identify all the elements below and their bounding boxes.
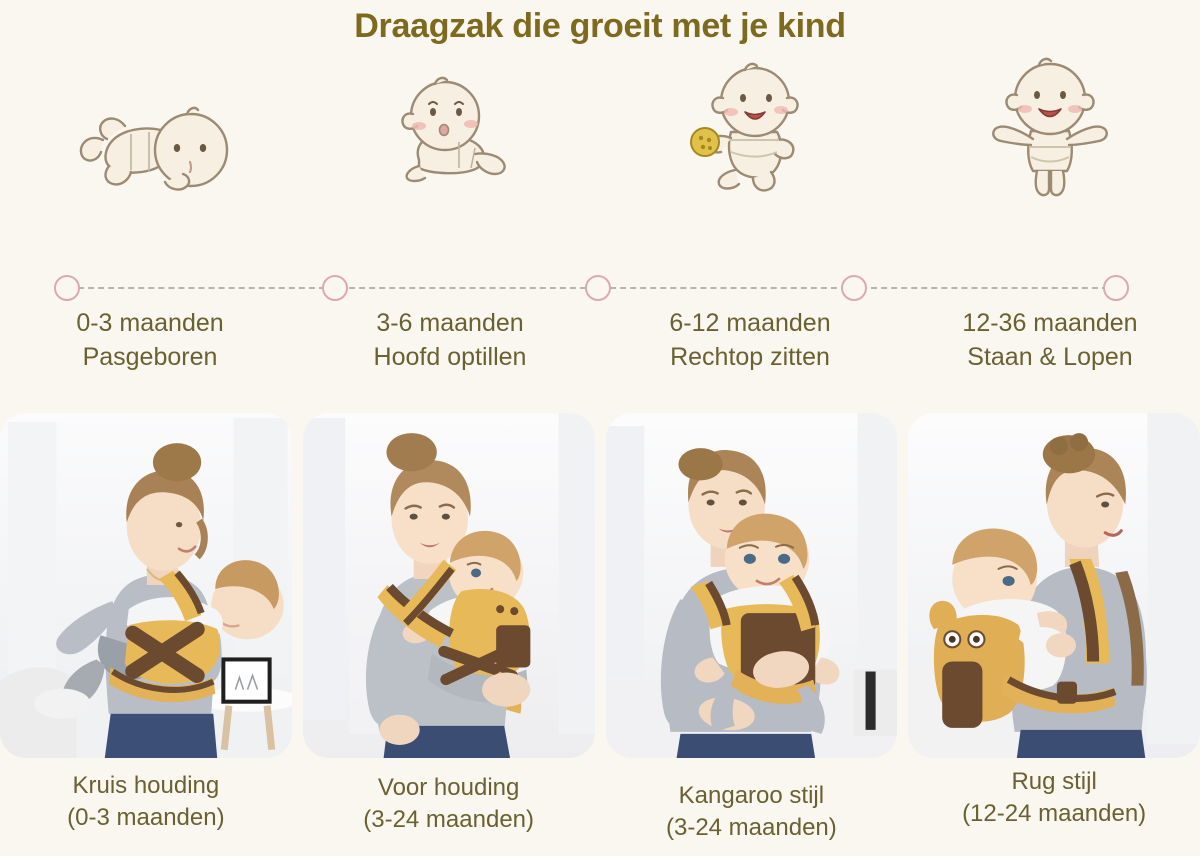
timeline-dot-5[interactable] — [1103, 275, 1129, 301]
timeline-dot-3[interactable] — [585, 275, 611, 301]
stage-icon-cell-4 — [900, 52, 1200, 202]
carry-style-name-1: Kruis houding — [72, 772, 219, 799]
mother-kangaroo-carry-photo — [606, 413, 898, 758]
stage-label-3: 6-12 maanden Rechtop zitten — [600, 306, 900, 374]
stage-age-4: 12-36 maanden — [962, 309, 1137, 337]
carry-age-range-4: (12-24 maanden) — [908, 798, 1200, 830]
stage-age-3: 6-12 maanden — [669, 309, 830, 337]
carry-age-range-3: (3-24 maanden) — [606, 812, 898, 844]
stage-age-1: 0-3 maanden — [76, 309, 223, 337]
carry-position-gallery: Kruis houding (0-3 maanden) — [0, 413, 1200, 856]
stage-milestone-4: Staan & Lopen — [900, 340, 1200, 374]
stage-label-4: 12-36 maanden Staan & Lopen — [900, 306, 1200, 374]
page-title: Draagzak die groeit met je kind — [0, 0, 1200, 48]
timeline-dot-row — [0, 272, 1200, 304]
stage-milestone-2: Hoofd optillen — [300, 340, 600, 374]
stage-icon-cell-1 — [0, 52, 300, 202]
stage-milestone-3: Rechtop zitten — [600, 340, 900, 374]
baby-standing-icon — [975, 53, 1125, 198]
stage-icon-cell-3 — [600, 52, 900, 202]
baby-lying-icon — [65, 78, 235, 198]
stage-icon-cell-2 — [300, 52, 600, 202]
stage-label-row: 0-3 maanden Pasgeboren 3-6 maanden Hoofd… — [0, 306, 1200, 374]
carry-caption-4: Rug stijl (12-24 maanden) — [908, 766, 1200, 830]
carry-style-name-3: Kangaroo stijl — [679, 782, 824, 809]
stage-label-1: 0-3 maanden Pasgeboren — [0, 306, 300, 374]
growth-timeline-section: 0-3 maanden Pasgeboren 3-6 maanden Hoofd… — [0, 48, 1200, 393]
mother-back-carry-photo — [908, 413, 1200, 758]
mother-cross-carry-photo — [0, 413, 292, 758]
carry-age-range-1: (0-3 maanden) — [0, 802, 292, 834]
carry-age-range-2: (3-24 maanden) — [303, 804, 595, 836]
carry-position-card-1[interactable]: Kruis houding (0-3 maanden) — [0, 413, 292, 856]
stage-age-2: 3-6 maanden — [376, 309, 523, 337]
baby-sitting-icon — [675, 58, 825, 198]
stage-milestone-1: Pasgeboren — [0, 340, 300, 374]
timeline-rail — [0, 272, 1200, 304]
stage-icon-row — [0, 52, 1200, 202]
timeline-dot-1[interactable] — [54, 275, 80, 301]
carry-style-name-2: Voor houding — [378, 774, 519, 801]
carry-caption-3: Kangaroo stijl (3-24 maanden) — [606, 766, 898, 844]
carry-caption-1: Kruis houding (0-3 maanden) — [0, 766, 292, 834]
mother-front-carry-photo — [303, 413, 595, 758]
carry-caption-2: Voor houding (3-24 maanden) — [303, 766, 595, 836]
carry-position-card-3[interactable]: Kangaroo stijl (3-24 maanden) — [606, 413, 898, 856]
baby-crawling-icon — [375, 68, 525, 198]
timeline-dot-4[interactable] — [841, 275, 867, 301]
carry-style-name-4: Rug stijl — [1011, 768, 1096, 795]
timeline-dot-2[interactable] — [322, 275, 348, 301]
carry-position-card-4[interactable]: Rug stijl (12-24 maanden) — [908, 413, 1200, 856]
stage-label-2: 3-6 maanden Hoofd optillen — [300, 306, 600, 374]
carry-position-card-2[interactable]: Voor houding (3-24 maanden) — [303, 413, 595, 856]
